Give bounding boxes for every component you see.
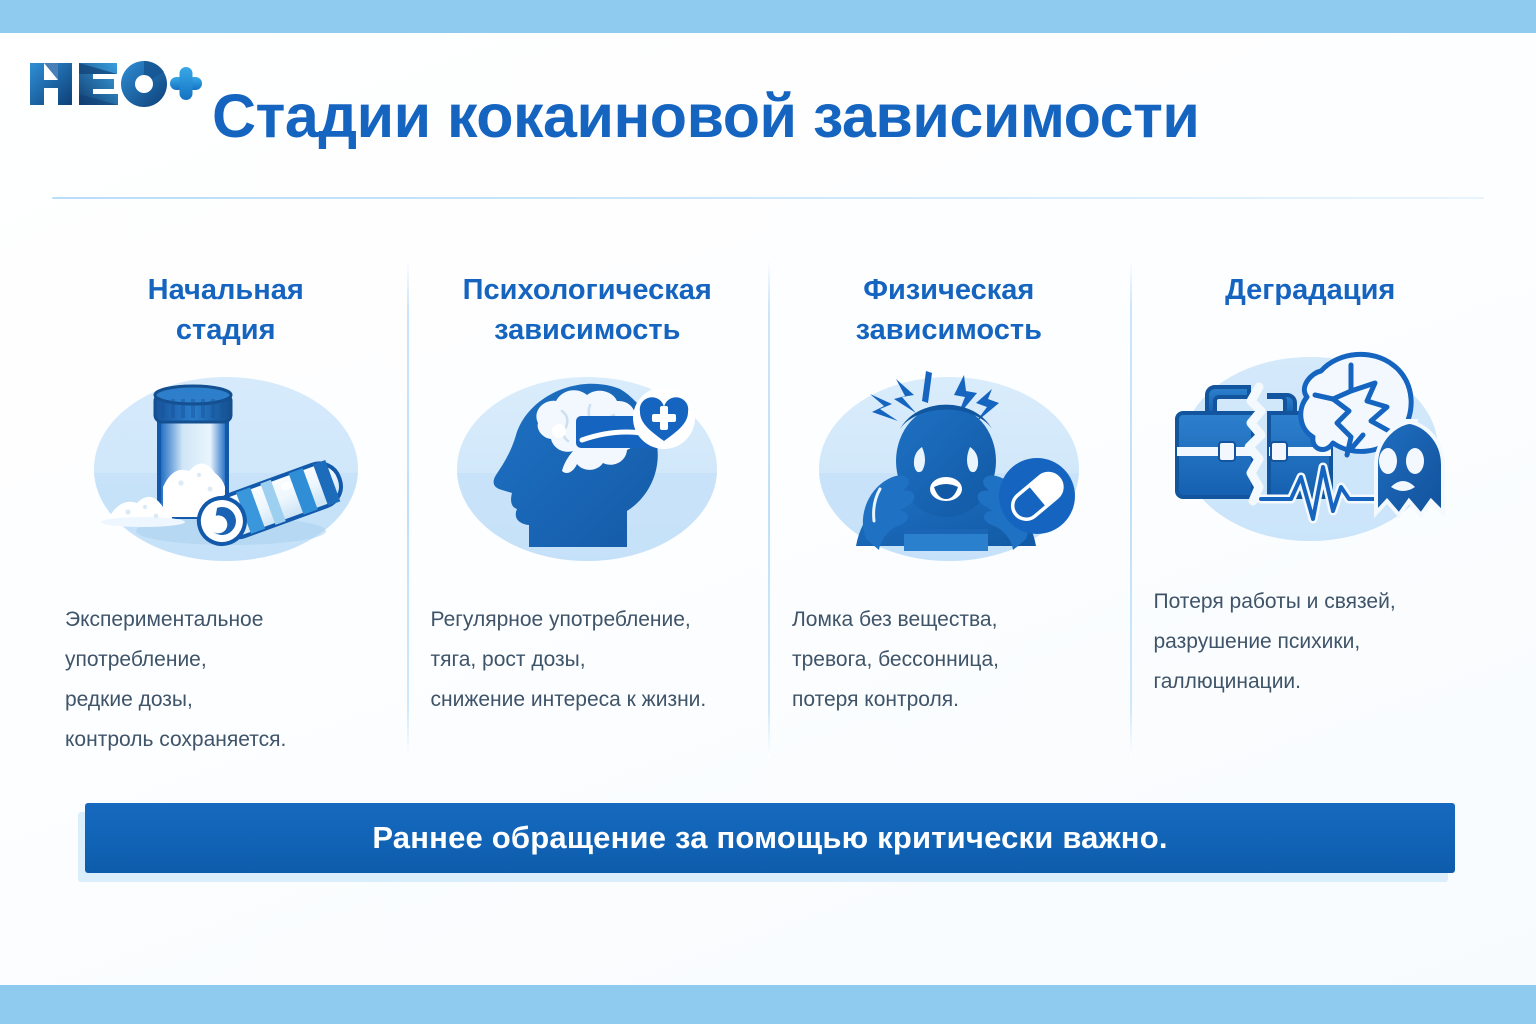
- title-divider: [52, 197, 1484, 199]
- stage-column-1: Начальная стадия: [45, 252, 407, 772]
- infographic-page: Стадии кокаиновой зависимости Начальная …: [0, 0, 1536, 1024]
- stage-column-2: Психологическая зависимость: [407, 252, 769, 772]
- stage-column-4: Деградация: [1130, 252, 1492, 772]
- bottom-accent-bar: [0, 985, 1536, 1024]
- head-brain-heart-plus-icon: [442, 358, 732, 578]
- stage-title: Физическая зависимость: [856, 252, 1042, 350]
- call-to-action-banner: Раннее обращение за помощью критически в…: [85, 803, 1455, 873]
- powder-jar-and-rolled-note-icon: [81, 358, 371, 578]
- page-title: Стадии кокаиновой зависимости: [212, 82, 1312, 150]
- stage-column-3: Физическая зависимость: [768, 252, 1130, 772]
- stage-body: Регулярное употребление, тяга, рост дозы…: [415, 600, 761, 720]
- stage-body: Ломка без вещества, тревога, бессонница,…: [776, 600, 1122, 720]
- neo-plus-logo: [22, 55, 202, 113]
- stages-container: Начальная стадия: [45, 252, 1491, 772]
- distressed-person-pill-icon: [804, 358, 1094, 578]
- stage-body: Экспериментальное употребление, редкие д…: [53, 600, 399, 760]
- broken-briefcase-brain-ghost-icon: [1165, 340, 1455, 560]
- stage-title: Деградация: [1225, 252, 1395, 332]
- top-accent-bar: [0, 0, 1536, 33]
- stage-title: Начальная стадия: [148, 252, 304, 350]
- stage-title: Психологическая зависимость: [463, 252, 712, 350]
- stage-body: Потеря работы и связей, разрушение психи…: [1138, 582, 1484, 702]
- banner-text: Раннее обращение за помощью критически в…: [372, 820, 1167, 856]
